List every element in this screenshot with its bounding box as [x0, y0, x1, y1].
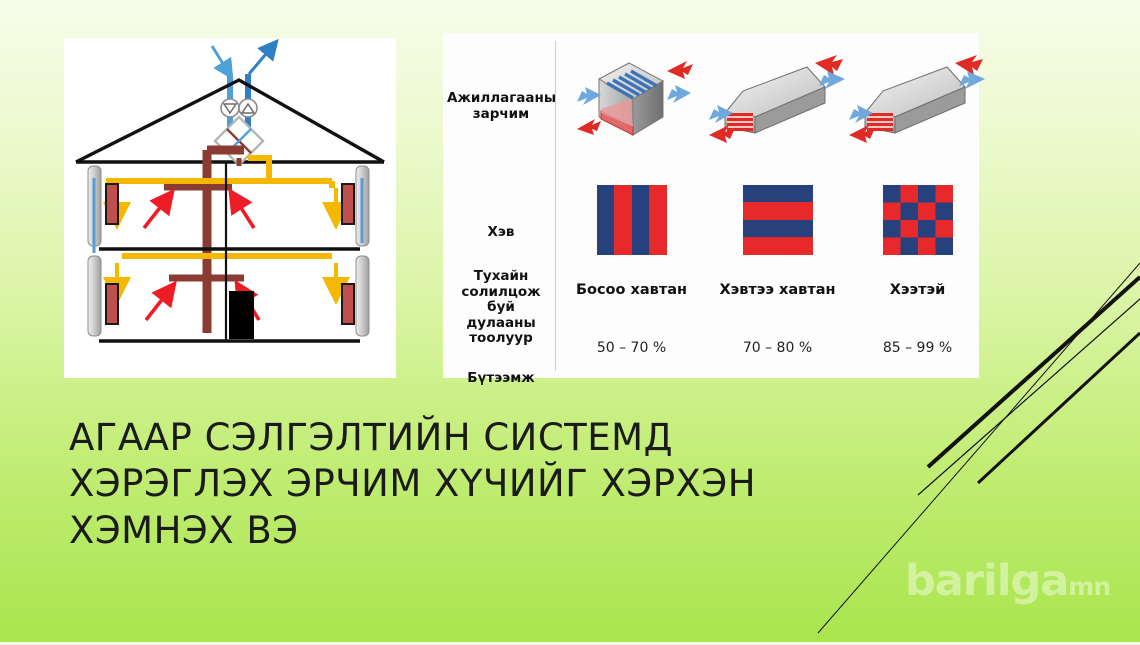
supply-fan-icon	[221, 99, 239, 117]
watermark-brand: barilga	[905, 556, 1068, 606]
supply-duct	[106, 158, 332, 256]
door	[229, 291, 254, 339]
row-label-counter: Тухайн солилцож буй дулааны тоолуур	[447, 269, 555, 347]
slide-title: АГААР СЭЛГЭЛТИЙН СИСТЕМД ХЭРЭГЛЭХ ЭРЧИМ …	[69, 415, 789, 554]
cold-air-arrow-out	[577, 87, 601, 105]
exhaust-fan-icon	[239, 99, 257, 117]
column-name-vertical-plate: Босоо хавтан	[561, 282, 702, 298]
slide-canvas: Ажиллагааны зарчим Хэв Тухайн солилцож б…	[0, 0, 1140, 642]
exchanger-illustration-counter-flow-1	[707, 51, 848, 151]
window-left-lower	[88, 256, 101, 336]
row-label-principle: Ажиллагааны зарчим	[447, 91, 555, 122]
house-diagram-panel	[64, 38, 396, 378]
radiator	[342, 284, 354, 324]
watermark: barilgamn	[905, 556, 1110, 606]
exchanger-illustration-counter-flow-2	[847, 51, 988, 151]
radiator	[106, 184, 118, 224]
row-label-efficiency: Бүтээмж	[447, 371, 555, 387]
warm-air-arrow-in	[577, 119, 601, 135]
pattern-swatch-vertical	[561, 185, 702, 261]
row-label-pattern: Хэв	[447, 225, 555, 241]
outdoor-air-arrow	[212, 46, 227, 70]
column-name-horizontal-plate: Хэвтээ хавтан	[707, 282, 848, 298]
window-right-lower	[356, 256, 369, 336]
warm-air-arrow-out	[667, 61, 693, 79]
radiator	[106, 284, 118, 324]
column-name-checkerboard: Хээтэй	[847, 282, 988, 298]
watermark-tld: mn	[1068, 572, 1110, 601]
radiator	[342, 184, 354, 224]
efficiency-horizontal-plate: 70 – 80 %	[707, 340, 848, 356]
pattern-swatch-horizontal	[707, 185, 848, 261]
efficiency-checkerboard: 85 – 99 %	[847, 340, 988, 356]
exhaust-air-arrow	[249, 48, 271, 74]
pattern-swatch-checkerboard	[847, 185, 988, 261]
heat-exchanger-table-panel: Ажиллагааны зарчим Хэв Тухайн солилцож б…	[443, 33, 979, 378]
house-section-svg	[64, 38, 396, 378]
efficiency-vertical-plate: 50 – 70 %	[561, 340, 702, 356]
cold-air-arrow-in	[667, 85, 691, 103]
exchanger-illustration-cross-flow	[561, 51, 702, 151]
